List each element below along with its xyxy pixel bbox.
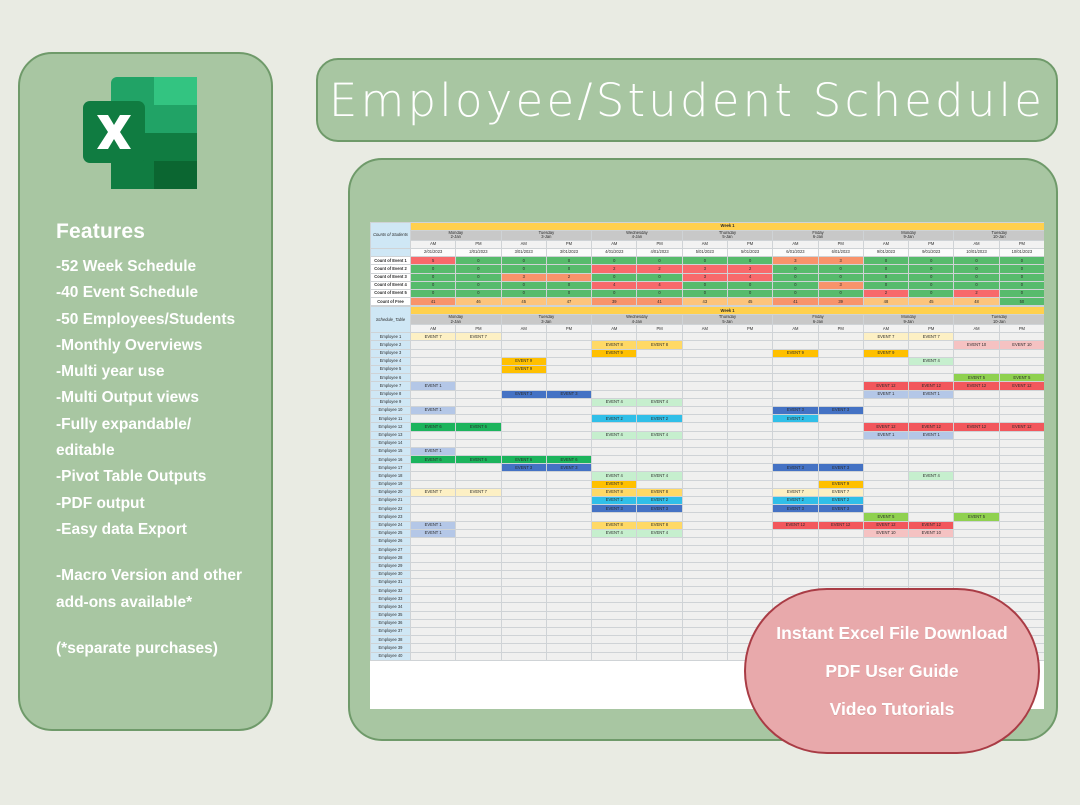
schedule-empty-cell[interactable] xyxy=(999,488,1044,496)
schedule-empty-cell[interactable] xyxy=(546,513,591,521)
schedule-empty-cell[interactable] xyxy=(682,366,727,374)
schedule-event-cell[interactable]: EVENT 3 xyxy=(818,505,863,513)
schedule-empty-cell[interactable] xyxy=(637,513,682,521)
schedule-event-cell[interactable]: EVENT 12 xyxy=(999,423,1044,431)
schedule-empty-cell[interactable] xyxy=(999,570,1044,578)
schedule-empty-cell[interactable] xyxy=(954,529,999,537)
schedule-empty-cell[interactable] xyxy=(637,382,682,390)
schedule-empty-cell[interactable] xyxy=(727,472,772,480)
schedule-empty-cell[interactable] xyxy=(999,456,1044,464)
schedule-empty-cell[interactable] xyxy=(456,480,501,488)
schedule-event-cell[interactable]: EVENT 7 xyxy=(456,488,501,496)
schedule-empty-cell[interactable] xyxy=(456,390,501,398)
schedule-event-cell[interactable]: EVENT 1 xyxy=(411,529,456,537)
schedule-empty-cell[interactable] xyxy=(501,349,546,357)
schedule-event-cell[interactable]: EVENT 10 xyxy=(999,341,1044,349)
schedule-event-cell[interactable]: EVENT 2 xyxy=(773,415,818,423)
schedule-empty-cell[interactable] xyxy=(727,480,772,488)
schedule-empty-cell[interactable] xyxy=(501,415,546,423)
schedule-event-cell[interactable]: EVENT 9 xyxy=(501,357,546,365)
schedule-empty-cell[interactable] xyxy=(954,447,999,455)
schedule-empty-cell[interactable] xyxy=(456,529,501,537)
schedule-event-cell[interactable]: EVENT 1 xyxy=(909,390,954,398)
schedule-empty-cell[interactable] xyxy=(501,333,546,341)
schedule-empty-cell[interactable] xyxy=(818,390,863,398)
schedule-empty-cell[interactable] xyxy=(682,341,727,349)
schedule-empty-cell[interactable] xyxy=(863,505,908,513)
schedule-empty-cell[interactable] xyxy=(773,578,818,586)
schedule-empty-cell[interactable] xyxy=(637,578,682,586)
schedule-event-cell[interactable]: EVENT 10 xyxy=(954,341,999,349)
schedule-empty-cell[interactable] xyxy=(456,415,501,423)
schedule-empty-cell[interactable] xyxy=(954,480,999,488)
schedule-empty-cell[interactable] xyxy=(456,537,501,545)
schedule-empty-cell[interactable] xyxy=(773,333,818,341)
schedule-empty-cell[interactable] xyxy=(909,341,954,349)
schedule-event-cell[interactable]: EVENT 12 xyxy=(773,521,818,529)
schedule-empty-cell[interactable] xyxy=(456,366,501,374)
schedule-empty-cell[interactable] xyxy=(682,374,727,382)
schedule-empty-cell[interactable] xyxy=(546,619,591,627)
schedule-empty-cell[interactable] xyxy=(999,554,1044,562)
schedule-empty-cell[interactable] xyxy=(727,349,772,357)
schedule-empty-cell[interactable] xyxy=(909,456,954,464)
schedule-empty-cell[interactable] xyxy=(818,423,863,431)
schedule-event-cell[interactable]: EVENT 3 xyxy=(501,464,546,472)
schedule-event-cell[interactable]: EVENT 2 xyxy=(592,415,637,423)
schedule-event-cell[interactable]: EVENT 12 xyxy=(909,423,954,431)
schedule-empty-cell[interactable] xyxy=(727,398,772,406)
schedule-empty-cell[interactable] xyxy=(592,374,637,382)
schedule-event-cell[interactable]: EVENT 6 xyxy=(411,456,456,464)
schedule-event-cell[interactable]: EVENT 3 xyxy=(773,406,818,414)
schedule-empty-cell[interactable] xyxy=(546,562,591,570)
schedule-empty-cell[interactable] xyxy=(411,472,456,480)
schedule-event-cell[interactable]: EVENT 3 xyxy=(592,505,637,513)
schedule-empty-cell[interactable] xyxy=(592,570,637,578)
schedule-empty-cell[interactable] xyxy=(411,628,456,636)
schedule-event-cell[interactable]: EVENT 7 xyxy=(818,488,863,496)
schedule-empty-cell[interactable] xyxy=(818,398,863,406)
schedule-empty-cell[interactable] xyxy=(592,595,637,603)
schedule-event-cell[interactable]: EVENT 3 xyxy=(637,505,682,513)
schedule-empty-cell[interactable] xyxy=(727,382,772,390)
schedule-empty-cell[interactable] xyxy=(727,562,772,570)
schedule-empty-cell[interactable] xyxy=(411,546,456,554)
schedule-empty-cell[interactable] xyxy=(546,636,591,644)
schedule-empty-cell[interactable] xyxy=(727,390,772,398)
schedule-empty-cell[interactable] xyxy=(818,554,863,562)
schedule-empty-cell[interactable] xyxy=(411,587,456,595)
schedule-empty-cell[interactable] xyxy=(637,357,682,365)
schedule-empty-cell[interactable] xyxy=(682,603,727,611)
schedule-empty-cell[interactable] xyxy=(863,488,908,496)
schedule-empty-cell[interactable] xyxy=(592,456,637,464)
schedule-empty-cell[interactable] xyxy=(727,521,772,529)
schedule-empty-cell[interactable] xyxy=(954,578,999,586)
schedule-empty-cell[interactable] xyxy=(818,570,863,578)
schedule-empty-cell[interactable] xyxy=(411,480,456,488)
schedule-event-cell[interactable]: EVENT 7 xyxy=(863,333,908,341)
schedule-empty-cell[interactable] xyxy=(818,333,863,341)
schedule-empty-cell[interactable] xyxy=(727,341,772,349)
schedule-empty-cell[interactable] xyxy=(501,595,546,603)
schedule-empty-cell[interactable] xyxy=(818,513,863,521)
schedule-empty-cell[interactable] xyxy=(682,423,727,431)
schedule-empty-cell[interactable] xyxy=(954,554,999,562)
schedule-empty-cell[interactable] xyxy=(501,341,546,349)
schedule-empty-cell[interactable] xyxy=(501,488,546,496)
schedule-empty-cell[interactable] xyxy=(773,570,818,578)
schedule-event-cell[interactable]: EVENT 8 xyxy=(637,488,682,496)
schedule-empty-cell[interactable] xyxy=(546,570,591,578)
schedule-empty-cell[interactable] xyxy=(999,587,1044,595)
schedule-empty-cell[interactable] xyxy=(999,366,1044,374)
schedule-empty-cell[interactable] xyxy=(456,562,501,570)
schedule-empty-cell[interactable] xyxy=(411,619,456,627)
schedule-empty-cell[interactable] xyxy=(727,423,772,431)
schedule-empty-cell[interactable] xyxy=(411,415,456,423)
schedule-empty-cell[interactable] xyxy=(863,472,908,480)
schedule-event-cell[interactable]: EVENT 1 xyxy=(411,406,456,414)
schedule-empty-cell[interactable] xyxy=(909,537,954,545)
schedule-empty-cell[interactable] xyxy=(411,570,456,578)
schedule-empty-cell[interactable] xyxy=(727,374,772,382)
schedule-empty-cell[interactable] xyxy=(954,349,999,357)
schedule-empty-cell[interactable] xyxy=(682,644,727,652)
schedule-empty-cell[interactable] xyxy=(637,546,682,554)
schedule-event-cell[interactable]: EVENT 12 xyxy=(954,382,999,390)
schedule-empty-cell[interactable] xyxy=(773,537,818,545)
schedule-empty-cell[interactable] xyxy=(909,447,954,455)
schedule-event-cell[interactable]: EVENT 4 xyxy=(592,398,637,406)
schedule-event-cell[interactable]: EVENT 10 xyxy=(909,529,954,537)
schedule-empty-cell[interactable] xyxy=(909,505,954,513)
schedule-empty-cell[interactable] xyxy=(999,562,1044,570)
schedule-empty-cell[interactable] xyxy=(456,554,501,562)
schedule-empty-cell[interactable] xyxy=(411,341,456,349)
schedule-empty-cell[interactable] xyxy=(727,447,772,455)
schedule-empty-cell[interactable] xyxy=(727,488,772,496)
schedule-event-cell[interactable]: EVENT 12 xyxy=(909,521,954,529)
schedule-empty-cell[interactable] xyxy=(637,464,682,472)
schedule-empty-cell[interactable] xyxy=(773,472,818,480)
schedule-empty-cell[interactable] xyxy=(592,546,637,554)
schedule-empty-cell[interactable] xyxy=(637,570,682,578)
schedule-empty-cell[interactable] xyxy=(682,439,727,447)
schedule-empty-cell[interactable] xyxy=(863,464,908,472)
schedule-empty-cell[interactable] xyxy=(818,382,863,390)
schedule-empty-cell[interactable] xyxy=(546,406,591,414)
schedule-empty-cell[interactable] xyxy=(501,636,546,644)
schedule-empty-cell[interactable] xyxy=(999,537,1044,545)
schedule-event-cell[interactable]: EVENT 1 xyxy=(411,521,456,529)
schedule-empty-cell[interactable] xyxy=(592,382,637,390)
schedule-empty-cell[interactable] xyxy=(682,570,727,578)
schedule-empty-cell[interactable] xyxy=(909,497,954,505)
schedule-empty-cell[interactable] xyxy=(954,497,999,505)
schedule-empty-cell[interactable] xyxy=(818,357,863,365)
schedule-event-cell[interactable]: EVENT 7 xyxy=(773,488,818,496)
pivot-table[interactable]: Counts of StudentsWeek 1Monday2-JanTuesd… xyxy=(370,222,1044,306)
schedule-empty-cell[interactable] xyxy=(546,505,591,513)
schedule-empty-cell[interactable] xyxy=(592,611,637,619)
schedule-empty-cell[interactable] xyxy=(727,595,772,603)
schedule-empty-cell[interactable] xyxy=(999,390,1044,398)
schedule-empty-cell[interactable] xyxy=(727,505,772,513)
schedule-empty-cell[interactable] xyxy=(637,366,682,374)
schedule-empty-cell[interactable] xyxy=(411,636,456,644)
schedule-empty-cell[interactable] xyxy=(546,587,591,595)
schedule-empty-cell[interactable] xyxy=(682,554,727,562)
schedule-empty-cell[interactable] xyxy=(592,603,637,611)
schedule-empty-cell[interactable] xyxy=(456,349,501,357)
schedule-empty-cell[interactable] xyxy=(456,603,501,611)
schedule-empty-cell[interactable] xyxy=(546,554,591,562)
schedule-empty-cell[interactable] xyxy=(501,513,546,521)
schedule-empty-cell[interactable] xyxy=(637,636,682,644)
schedule-empty-cell[interactable] xyxy=(456,570,501,578)
schedule-empty-cell[interactable] xyxy=(773,382,818,390)
schedule-empty-cell[interactable] xyxy=(501,497,546,505)
schedule-empty-cell[interactable] xyxy=(546,333,591,341)
schedule-empty-cell[interactable] xyxy=(637,480,682,488)
schedule-empty-cell[interactable] xyxy=(592,578,637,586)
schedule-empty-cell[interactable] xyxy=(999,480,1044,488)
schedule-empty-cell[interactable] xyxy=(501,480,546,488)
schedule-empty-cell[interactable] xyxy=(682,562,727,570)
schedule-empty-cell[interactable] xyxy=(727,439,772,447)
schedule-empty-cell[interactable] xyxy=(999,406,1044,414)
schedule-event-cell[interactable]: EVENT 8 xyxy=(592,341,637,349)
schedule-empty-cell[interactable] xyxy=(727,603,772,611)
schedule-empty-cell[interactable] xyxy=(773,398,818,406)
schedule-event-cell[interactable]: EVENT 3 xyxy=(546,390,591,398)
schedule-event-cell[interactable]: EVENT 12 xyxy=(863,423,908,431)
schedule-empty-cell[interactable] xyxy=(637,374,682,382)
schedule-empty-cell[interactable] xyxy=(592,619,637,627)
schedule-empty-cell[interactable] xyxy=(592,628,637,636)
schedule-empty-cell[interactable] xyxy=(592,357,637,365)
schedule-empty-cell[interactable] xyxy=(954,456,999,464)
schedule-empty-cell[interactable] xyxy=(682,611,727,619)
schedule-empty-cell[interactable] xyxy=(909,513,954,521)
schedule-empty-cell[interactable] xyxy=(682,546,727,554)
schedule-empty-cell[interactable] xyxy=(682,521,727,529)
schedule-event-cell[interactable]: EVENT 9 xyxy=(501,366,546,374)
schedule-empty-cell[interactable] xyxy=(727,333,772,341)
schedule-empty-cell[interactable] xyxy=(546,652,591,660)
schedule-event-cell[interactable]: EVENT 2 xyxy=(637,497,682,505)
schedule-empty-cell[interactable] xyxy=(727,546,772,554)
schedule-empty-cell[interactable] xyxy=(637,456,682,464)
schedule-empty-cell[interactable] xyxy=(637,554,682,562)
schedule-event-cell[interactable]: EVENT 9 xyxy=(818,480,863,488)
schedule-event-cell[interactable]: EVENT 4 xyxy=(592,472,637,480)
schedule-empty-cell[interactable] xyxy=(546,415,591,423)
schedule-empty-cell[interactable] xyxy=(456,636,501,644)
schedule-empty-cell[interactable] xyxy=(592,366,637,374)
schedule-empty-cell[interactable] xyxy=(501,644,546,652)
schedule-empty-cell[interactable] xyxy=(592,644,637,652)
schedule-empty-cell[interactable] xyxy=(909,488,954,496)
schedule-empty-cell[interactable] xyxy=(818,374,863,382)
schedule-empty-cell[interactable] xyxy=(818,447,863,455)
schedule-empty-cell[interactable] xyxy=(411,349,456,357)
schedule-event-cell[interactable]: EVENT 12 xyxy=(999,382,1044,390)
schedule-empty-cell[interactable] xyxy=(546,595,591,603)
schedule-empty-cell[interactable] xyxy=(682,464,727,472)
schedule-empty-cell[interactable] xyxy=(546,480,591,488)
schedule-empty-cell[interactable] xyxy=(682,619,727,627)
schedule-empty-cell[interactable] xyxy=(999,521,1044,529)
schedule-empty-cell[interactable] xyxy=(682,333,727,341)
schedule-empty-cell[interactable] xyxy=(818,439,863,447)
schedule-empty-cell[interactable] xyxy=(592,537,637,545)
schedule-empty-cell[interactable] xyxy=(546,521,591,529)
schedule-empty-cell[interactable] xyxy=(773,366,818,374)
schedule-empty-cell[interactable] xyxy=(456,447,501,455)
schedule-empty-cell[interactable] xyxy=(592,464,637,472)
schedule-empty-cell[interactable] xyxy=(411,603,456,611)
schedule-empty-cell[interactable] xyxy=(592,447,637,455)
schedule-empty-cell[interactable] xyxy=(863,366,908,374)
schedule-empty-cell[interactable] xyxy=(456,595,501,603)
schedule-empty-cell[interactable] xyxy=(727,464,772,472)
schedule-empty-cell[interactable] xyxy=(773,431,818,439)
schedule-empty-cell[interactable] xyxy=(501,529,546,537)
schedule-empty-cell[interactable] xyxy=(501,537,546,545)
schedule-empty-cell[interactable] xyxy=(773,374,818,382)
schedule-empty-cell[interactable] xyxy=(546,357,591,365)
schedule-empty-cell[interactable] xyxy=(501,423,546,431)
schedule-empty-cell[interactable] xyxy=(863,546,908,554)
schedule-empty-cell[interactable] xyxy=(501,546,546,554)
schedule-empty-cell[interactable] xyxy=(999,595,1044,603)
schedule-empty-cell[interactable] xyxy=(592,562,637,570)
schedule-event-cell[interactable]: EVENT 4 xyxy=(637,472,682,480)
schedule-empty-cell[interactable] xyxy=(773,513,818,521)
schedule-empty-cell[interactable] xyxy=(863,406,908,414)
schedule-event-cell[interactable]: EVENT 6 xyxy=(456,423,501,431)
schedule-empty-cell[interactable] xyxy=(682,537,727,545)
schedule-empty-cell[interactable] xyxy=(411,366,456,374)
schedule-empty-cell[interactable] xyxy=(682,398,727,406)
schedule-empty-cell[interactable] xyxy=(954,505,999,513)
schedule-empty-cell[interactable] xyxy=(954,521,999,529)
schedule-empty-cell[interactable] xyxy=(682,431,727,439)
schedule-empty-cell[interactable] xyxy=(818,472,863,480)
schedule-empty-cell[interactable] xyxy=(682,415,727,423)
schedule-empty-cell[interactable] xyxy=(863,570,908,578)
schedule-empty-cell[interactable] xyxy=(954,357,999,365)
schedule-empty-cell[interactable] xyxy=(999,472,1044,480)
schedule-empty-cell[interactable] xyxy=(456,521,501,529)
schedule-empty-cell[interactable] xyxy=(682,513,727,521)
schedule-empty-cell[interactable] xyxy=(909,349,954,357)
schedule-empty-cell[interactable] xyxy=(954,537,999,545)
schedule-empty-cell[interactable] xyxy=(727,513,772,521)
schedule-empty-cell[interactable] xyxy=(411,644,456,652)
schedule-event-cell[interactable]: EVENT 1 xyxy=(411,382,456,390)
schedule-empty-cell[interactable] xyxy=(592,554,637,562)
schedule-empty-cell[interactable] xyxy=(682,497,727,505)
schedule-empty-cell[interactable] xyxy=(909,415,954,423)
schedule-empty-cell[interactable] xyxy=(546,366,591,374)
schedule-empty-cell[interactable] xyxy=(727,578,772,586)
schedule-empty-cell[interactable] xyxy=(818,562,863,570)
schedule-empty-cell[interactable] xyxy=(411,505,456,513)
schedule-empty-cell[interactable] xyxy=(637,611,682,619)
schedule-empty-cell[interactable] xyxy=(863,341,908,349)
schedule-empty-cell[interactable] xyxy=(637,423,682,431)
schedule-empty-cell[interactable] xyxy=(999,357,1044,365)
schedule-empty-cell[interactable] xyxy=(501,406,546,414)
schedule-empty-cell[interactable] xyxy=(773,341,818,349)
schedule-event-cell[interactable]: EVENT 7 xyxy=(456,333,501,341)
schedule-empty-cell[interactable] xyxy=(954,390,999,398)
schedule-empty-cell[interactable] xyxy=(411,513,456,521)
schedule-empty-cell[interactable] xyxy=(909,562,954,570)
schedule-empty-cell[interactable] xyxy=(909,554,954,562)
schedule-empty-cell[interactable] xyxy=(637,390,682,398)
schedule-empty-cell[interactable] xyxy=(456,406,501,414)
schedule-empty-cell[interactable] xyxy=(999,578,1044,586)
schedule-empty-cell[interactable] xyxy=(999,529,1044,537)
schedule-empty-cell[interactable] xyxy=(954,488,999,496)
schedule-empty-cell[interactable] xyxy=(999,513,1044,521)
schedule-empty-cell[interactable] xyxy=(411,537,456,545)
schedule-empty-cell[interactable] xyxy=(411,439,456,447)
schedule-empty-cell[interactable] xyxy=(818,341,863,349)
schedule-event-cell[interactable]: EVENT 9 xyxy=(592,349,637,357)
schedule-empty-cell[interactable] xyxy=(682,578,727,586)
schedule-empty-cell[interactable] xyxy=(863,537,908,545)
schedule-empty-cell[interactable] xyxy=(501,398,546,406)
schedule-event-cell[interactable]: EVENT 7 xyxy=(909,333,954,341)
schedule-event-cell[interactable]: EVENT 12 xyxy=(909,382,954,390)
schedule-empty-cell[interactable] xyxy=(637,644,682,652)
schedule-event-cell[interactable]: EVENT 5 xyxy=(954,513,999,521)
schedule-event-cell[interactable]: EVENT 5 xyxy=(954,374,999,382)
schedule-empty-cell[interactable] xyxy=(456,472,501,480)
schedule-event-cell[interactable]: EVENT 7 xyxy=(411,333,456,341)
schedule-empty-cell[interactable] xyxy=(411,398,456,406)
schedule-empty-cell[interactable] xyxy=(682,587,727,595)
schedule-event-cell[interactable]: EVENT 9 xyxy=(863,349,908,357)
schedule-empty-cell[interactable] xyxy=(863,578,908,586)
schedule-event-cell[interactable]: EVENT 8 xyxy=(637,521,682,529)
schedule-empty-cell[interactable] xyxy=(999,447,1044,455)
schedule-empty-cell[interactable] xyxy=(456,431,501,439)
schedule-empty-cell[interactable] xyxy=(411,497,456,505)
schedule-empty-cell[interactable] xyxy=(501,554,546,562)
schedule-empty-cell[interactable] xyxy=(863,398,908,406)
schedule-empty-cell[interactable] xyxy=(999,415,1044,423)
schedule-empty-cell[interactable] xyxy=(909,406,954,414)
schedule-empty-cell[interactable] xyxy=(954,570,999,578)
schedule-empty-cell[interactable] xyxy=(682,480,727,488)
schedule-event-cell[interactable]: EVENT 4 xyxy=(592,529,637,537)
schedule-event-cell[interactable]: EVENT 6 xyxy=(411,423,456,431)
schedule-empty-cell[interactable] xyxy=(999,505,1044,513)
schedule-event-cell[interactable]: EVENT 2 xyxy=(637,415,682,423)
schedule-empty-cell[interactable] xyxy=(682,488,727,496)
schedule-empty-cell[interactable] xyxy=(954,472,999,480)
schedule-event-cell[interactable]: EVENT 9 xyxy=(773,349,818,357)
schedule-event-cell[interactable]: EVENT 6 xyxy=(456,456,501,464)
schedule-empty-cell[interactable] xyxy=(954,562,999,570)
